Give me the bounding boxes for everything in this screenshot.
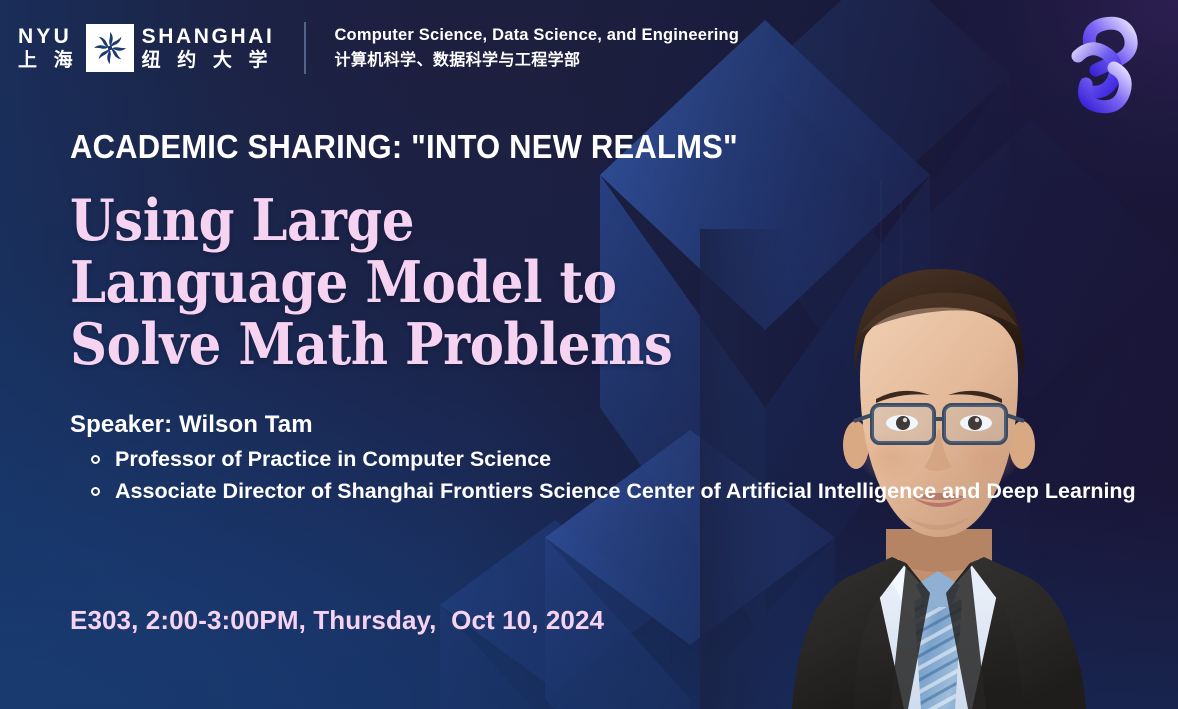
kicker-title: ACADEMIC SHARING: "INTO NEW REALMS" (70, 128, 738, 166)
venue-datetime: E303, 2:00-3:00PM, Thursday, Oct 10, 202… (70, 605, 604, 636)
nyu-shanghai-logo: NYU 上 海 (18, 20, 274, 76)
speaker-role-text: Professor of Practice in Computer Scienc… (115, 447, 551, 471)
event-poster: NYU 上 海 (0, 0, 1178, 709)
speaker-roles-list: Professor of Practice in Computer Scienc… (70, 444, 1136, 507)
title-line-3: Solve Math Problems (70, 314, 672, 376)
speaker-name: Speaker: Wilson Tam (70, 410, 1136, 440)
speaker-section: Speaker: Wilson Tam Professor of Practic… (70, 410, 1136, 508)
list-item: Professor of Practice in Computer Scienc… (70, 444, 1136, 475)
department-name-en: Computer Science, Data Science, and Engi… (334, 24, 739, 48)
header-divider (304, 22, 306, 74)
bullet-circle-icon (91, 455, 100, 464)
brand-header: NYU 上 海 (18, 20, 739, 76)
nyu-wordmark-left: NYU 上 海 (18, 25, 78, 72)
title-line-1: Using Large (70, 190, 672, 252)
nyu-label-en: NYU (18, 25, 78, 49)
shanghai-label-en: SHANGHAI (142, 25, 275, 49)
nyu-wordmark-right: SHANGHAI 纽 约 大 学 (142, 25, 275, 72)
abstract-curve-logo-icon (1060, 12, 1156, 122)
bullet-circle-icon (91, 487, 100, 496)
title-line-2: Language Model to (70, 252, 672, 314)
nyu-label-zh: 上 海 (18, 49, 78, 72)
speaker-role-text: Associate Director of Shanghai Frontiers… (115, 479, 1136, 503)
department-name-zh: 计算机科学、数据科学与工程学部 (334, 48, 739, 72)
shanghai-label-zh: 纽 约 大 学 (142, 49, 275, 72)
nyu-torch-emblem-icon (86, 24, 134, 72)
page-title: Using Large Language Model to Solve Math… (70, 190, 672, 376)
list-item: Associate Director of Shanghai Frontiers… (70, 476, 1136, 507)
department-name: Computer Science, Data Science, and Engi… (334, 24, 739, 72)
